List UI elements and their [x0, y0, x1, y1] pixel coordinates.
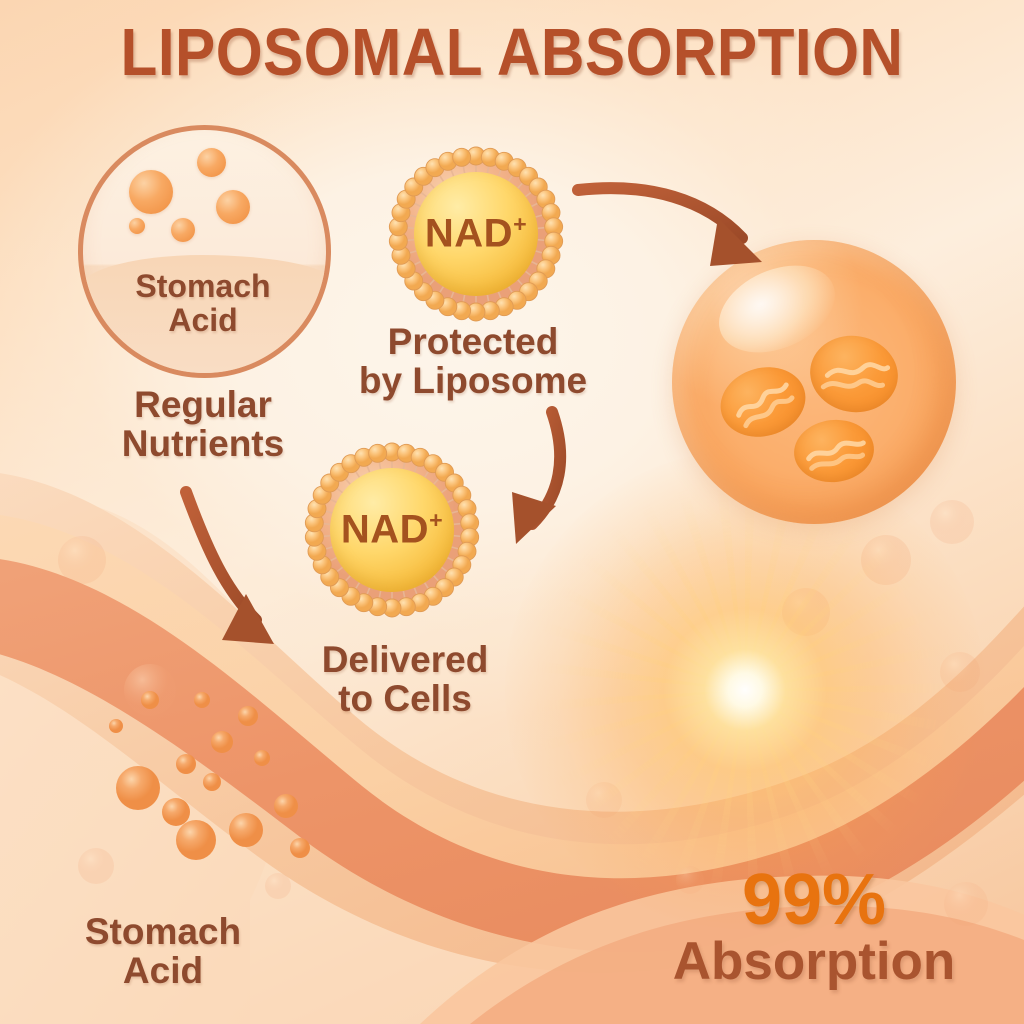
absorption-result: 99% Absorption [614, 866, 1014, 989]
stomach-acid-tissue-label-line1: Stomach [38, 912, 288, 951]
stomach-acid-circle-label-line2: Acid [103, 304, 303, 338]
liposome-protected-core: NAD+ [414, 172, 538, 296]
mitochondrion [791, 416, 877, 486]
acid-bubble [171, 218, 195, 242]
stomach-acid-circle-label: Stomach Acid [103, 270, 303, 338]
liposome-delivered-caption-line1: Delivered [280, 640, 530, 679]
acid-bubble [197, 148, 226, 177]
liposome-protected-caption: Protected by Liposome [348, 322, 598, 400]
stomach-acid-beaker: Stomach Acid [78, 125, 331, 378]
acid-bubble [129, 170, 173, 214]
mitochondrion [804, 329, 904, 419]
regular-nutrients-label-line1: Regular [78, 385, 328, 424]
absorption-word: Absorption [614, 935, 1014, 989]
acid-bubble [129, 218, 145, 234]
page-title: LIPOSOMAL ABSORPTION [51, 14, 973, 91]
regular-nutrients-label-line2: Nutrients [78, 424, 328, 463]
liposome-delivered-caption: Delivered to Cells [280, 640, 530, 718]
target-cell [672, 240, 956, 524]
liposome-protected-caption-line2: by Liposome [348, 361, 598, 400]
stomach-acid-tissue-label: Stomach Acid [38, 912, 288, 990]
liposome-protected-caption-line1: Protected [348, 322, 598, 361]
nad-plus-label: NAD+ [425, 211, 527, 256]
stomach-acid-tissue-label-line2: Acid [38, 951, 288, 990]
acid-bubble [216, 190, 250, 224]
liposome-delivered-caption-line2: to Cells [280, 679, 530, 718]
liposome-delivered-core: NAD+ [330, 468, 454, 592]
regular-nutrients-label: Regular Nutrients [78, 385, 328, 463]
absorption-percent: 99% [614, 866, 1014, 935]
nad-plus-label: NAD+ [341, 507, 443, 552]
infographic-canvas: LIPOSOMAL ABSORPTION Stomach Acid NAD+ P [0, 0, 1024, 1024]
stomach-acid-circle-label-line1: Stomach [103, 270, 303, 304]
